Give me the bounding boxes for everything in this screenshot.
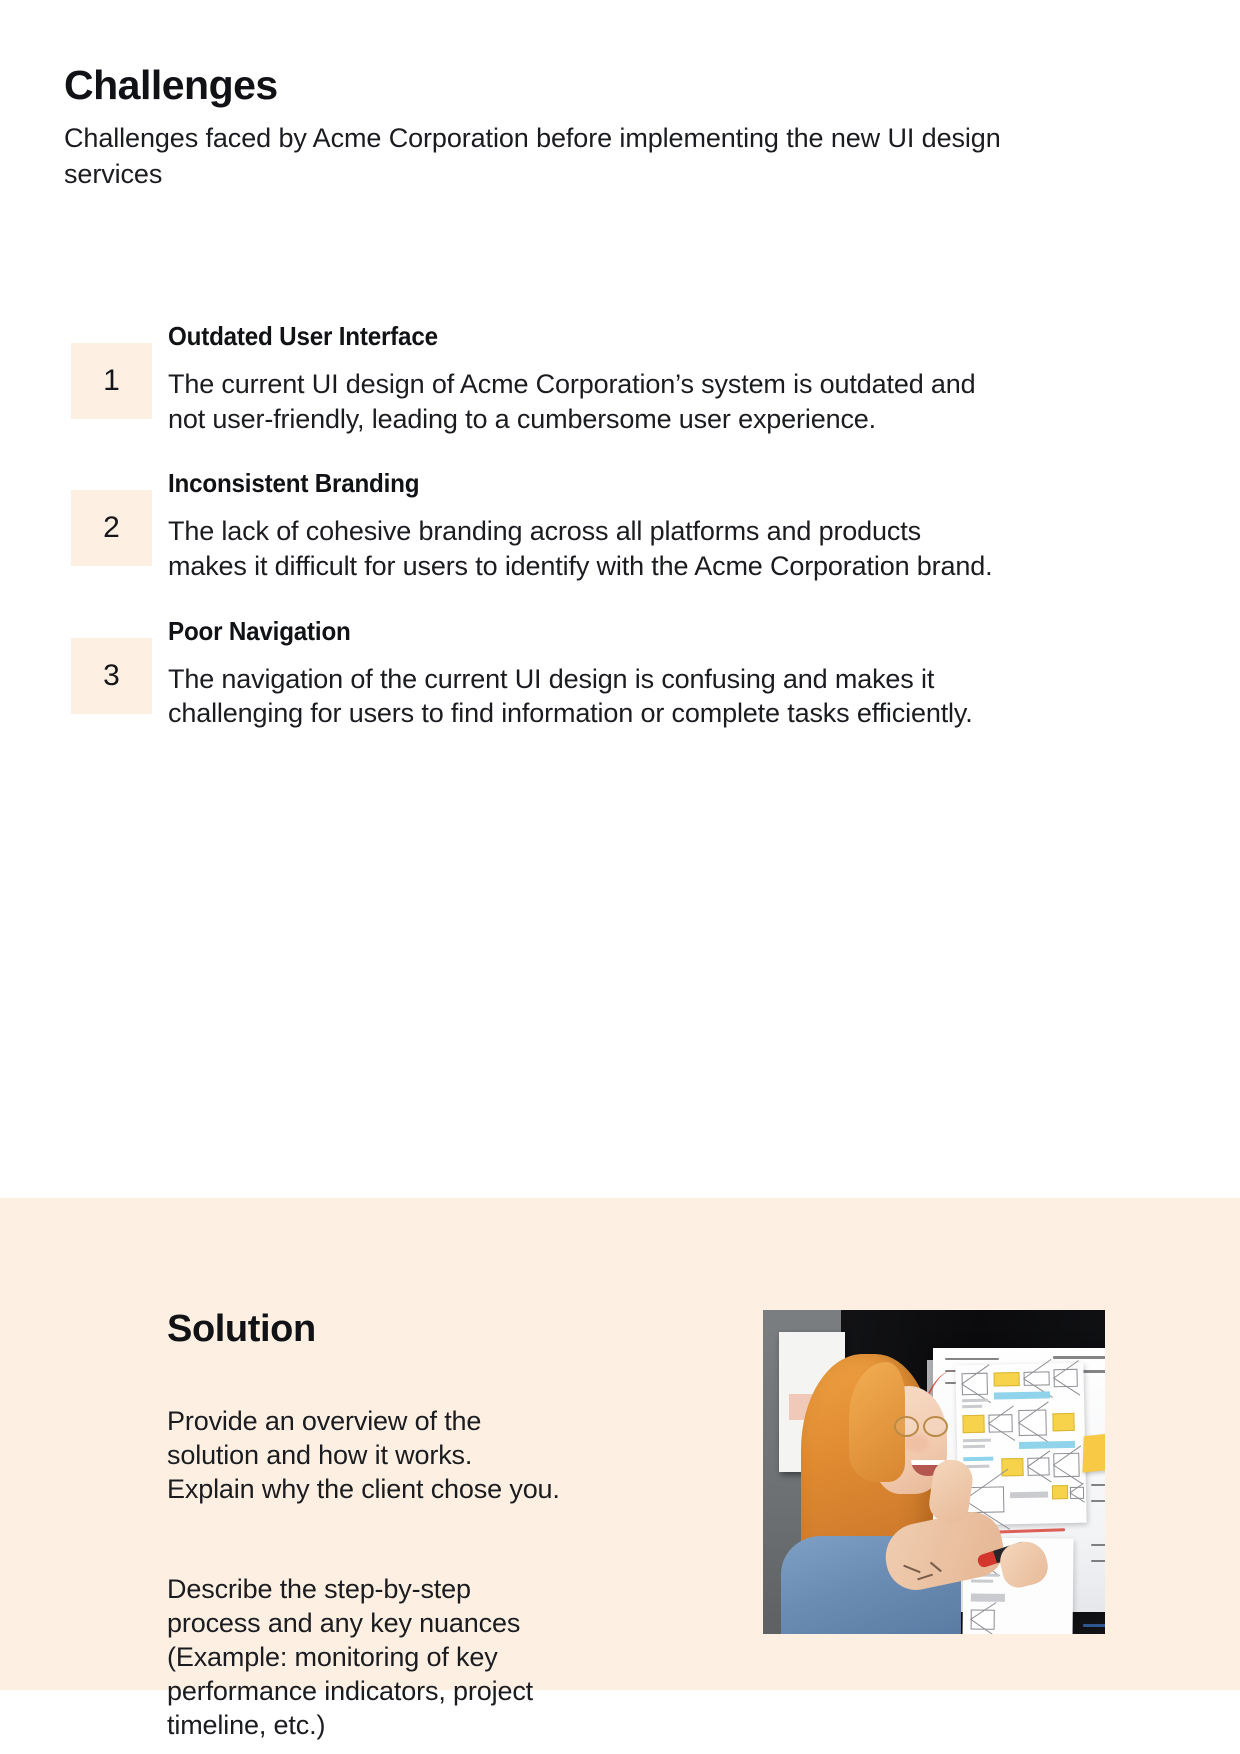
photo-handwriting [1091,1500,1105,1502]
photo-handwriting [1083,1624,1105,1627]
slide-page: Challenges Challenges faced by Acme Corp… [0,0,1240,1754]
page-subtitle: Challenges faced by Acme Corporation bef… [64,120,1049,192]
challenge-number-badge: 3 [71,638,152,714]
photo-sticky-note [1082,1431,1105,1472]
challenge-item: 2 Inconsistent Branding The lack of cohe… [0,490,1240,583]
solution-section: Solution Provide an overview of the solu… [0,1198,1240,1690]
challenge-description: The lack of cohesive branding across all… [168,514,998,583]
challenge-item: 1 Outdated User Interface The current UI… [0,343,1240,436]
solution-paragraph-2: Describe the step-by-step process and an… [167,1574,533,1740]
photo-handwriting [1053,1356,1105,1359]
solution-title: Solution [167,1309,316,1351]
solution-paragraph-1: Provide an overview of the solution and … [167,1406,560,1504]
challenge-body: Poor Navigation The navigation of the cu… [168,616,1240,731]
page-title: Challenges [64,62,1074,109]
page-header: Challenges Challenges faced by Acme Corp… [64,62,1074,192]
challenge-body: Inconsistent Branding The lack of cohesi… [168,468,1240,583]
challenges-list: 1 Outdated User Interface The current UI… [0,343,1240,785]
photo-scene [763,1310,1105,1634]
challenge-number-badge: 1 [71,343,152,419]
challenge-title: Poor Navigation [168,616,1016,647]
challenge-body: Outdated User Interface The current UI d… [168,321,1240,436]
solution-copy: Provide an overview of the solution and … [167,1370,657,1742]
photo-person-glasses [894,1416,952,1438]
photo-handwriting [1091,1544,1105,1546]
photo-handwriting [945,1358,999,1360]
challenge-title: Outdated User Interface [168,321,1016,352]
challenge-item: 3 Poor Navigation The navigation of the … [0,638,1240,731]
challenge-number-badge: 2 [71,490,152,566]
challenge-description: The navigation of the current UI design … [168,662,998,731]
photo-handwriting [1091,1484,1105,1486]
paragraph-spacer [167,1506,657,1538]
photo-handwriting [1091,1560,1105,1562]
challenge-title: Inconsistent Branding [168,468,1016,499]
photo-person-tattoo [903,1562,947,1592]
challenge-description: The current UI design of Acme Corporatio… [168,367,998,436]
solution-photo [763,1310,1105,1634]
